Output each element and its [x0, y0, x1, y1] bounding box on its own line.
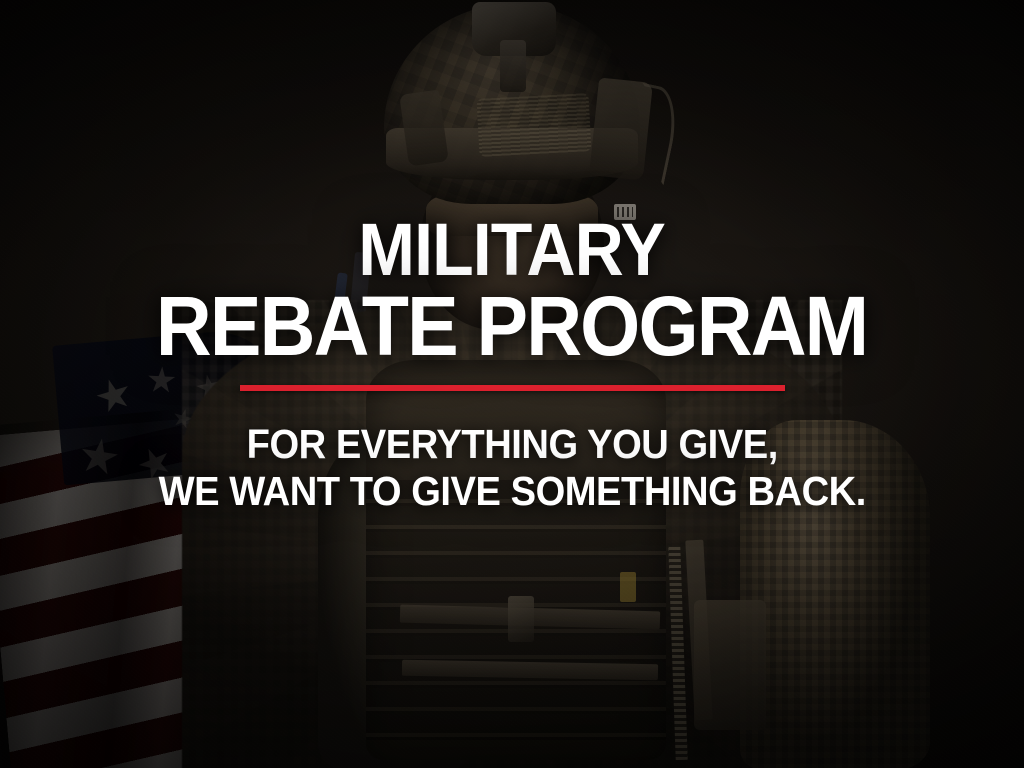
subheadline-line-1: FOR EVERYTHING YOU GIVE, — [246, 421, 777, 467]
headline: MILITARY REBATE PROGRAM — [156, 214, 867, 367]
subheadline-line-2: WE WANT TO GIVE SOMETHING BACK. — [158, 468, 865, 515]
military-rebate-banner: MILITARY REBATE PROGRAM FOR EVERYTHING Y… — [0, 0, 1024, 768]
headline-line-2: REBATE PROGRAM — [156, 286, 867, 367]
subheadline: FOR EVERYTHING YOU GIVE, WE WANT TO GIVE… — [158, 421, 865, 514]
red-divider-rule — [240, 385, 785, 391]
text-overlay: MILITARY REBATE PROGRAM FOR EVERYTHING Y… — [0, 0, 1024, 768]
